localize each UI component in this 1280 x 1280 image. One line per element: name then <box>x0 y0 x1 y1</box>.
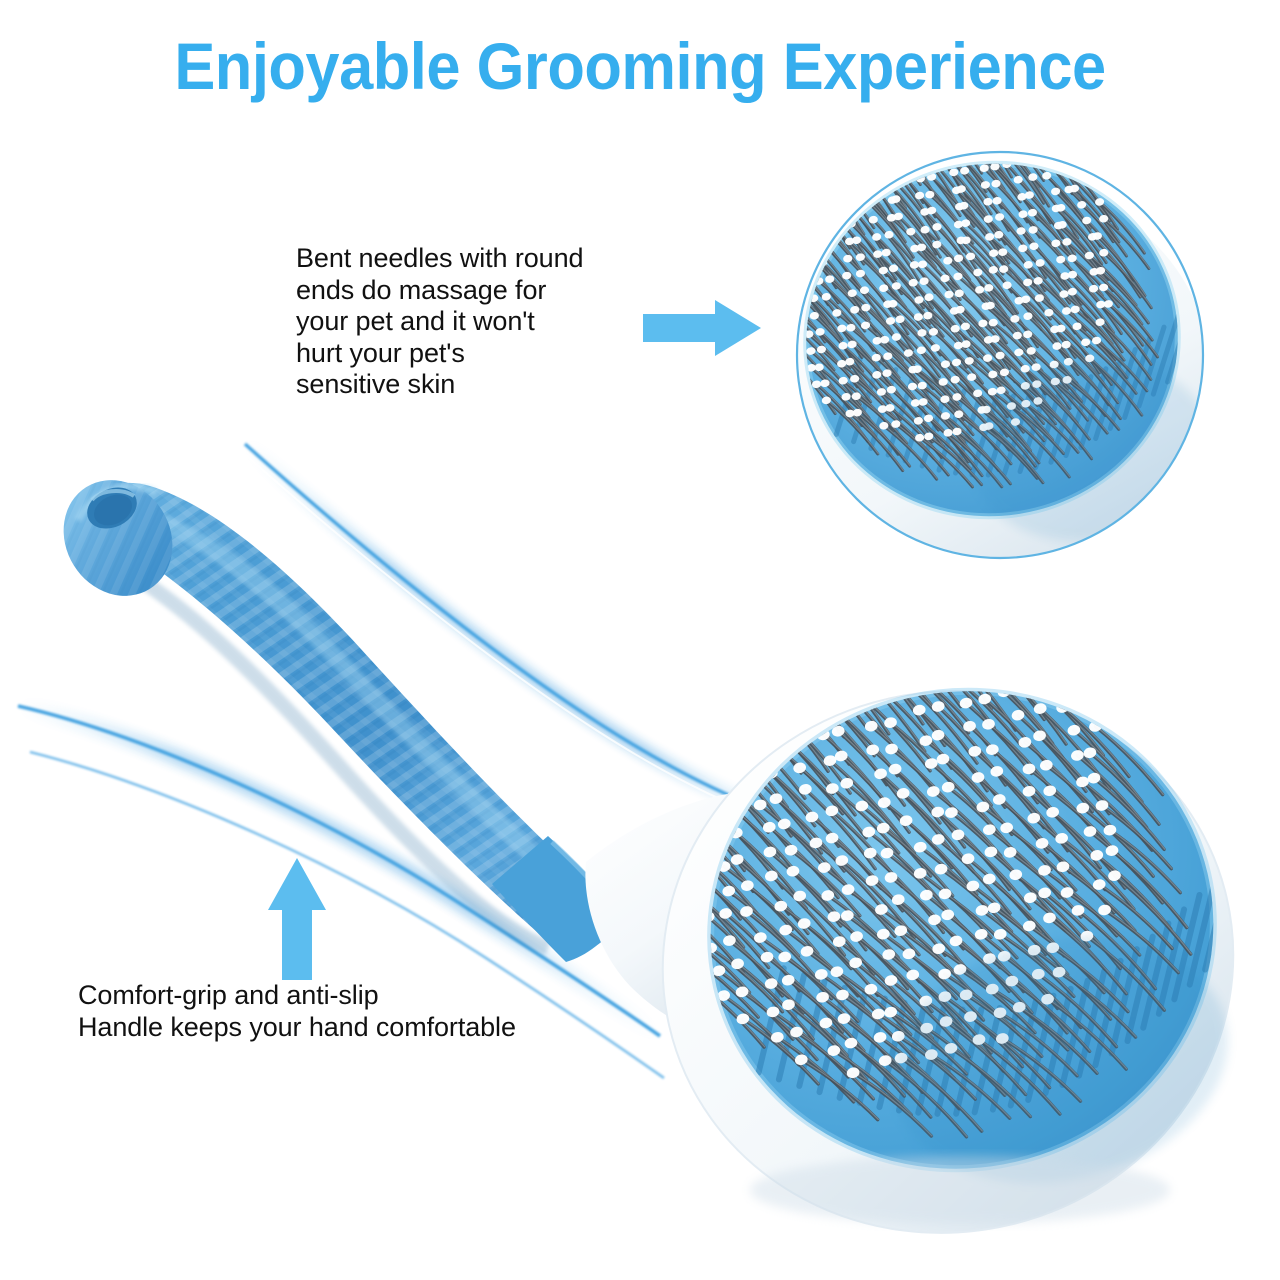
callout-text-comfort-grip: Comfort-grip and anti-slip Handle keeps … <box>78 980 638 1043</box>
brush-head-closeup <box>748 90 1223 580</box>
product-illustration <box>0 0 1280 1280</box>
brush-handle <box>42 460 624 962</box>
brush-head <box>585 581 1280 1280</box>
infographic-canvas: Enjoyable Grooming Experience Bent needl… <box>0 0 1280 1280</box>
callout-text-bent-needles: Bent needles with round ends do massage … <box>296 243 646 401</box>
page-title: Enjoyable Grooming Experience <box>45 28 1235 104</box>
arrow-up-icon <box>268 858 326 980</box>
arrow-right-icon <box>643 300 761 356</box>
